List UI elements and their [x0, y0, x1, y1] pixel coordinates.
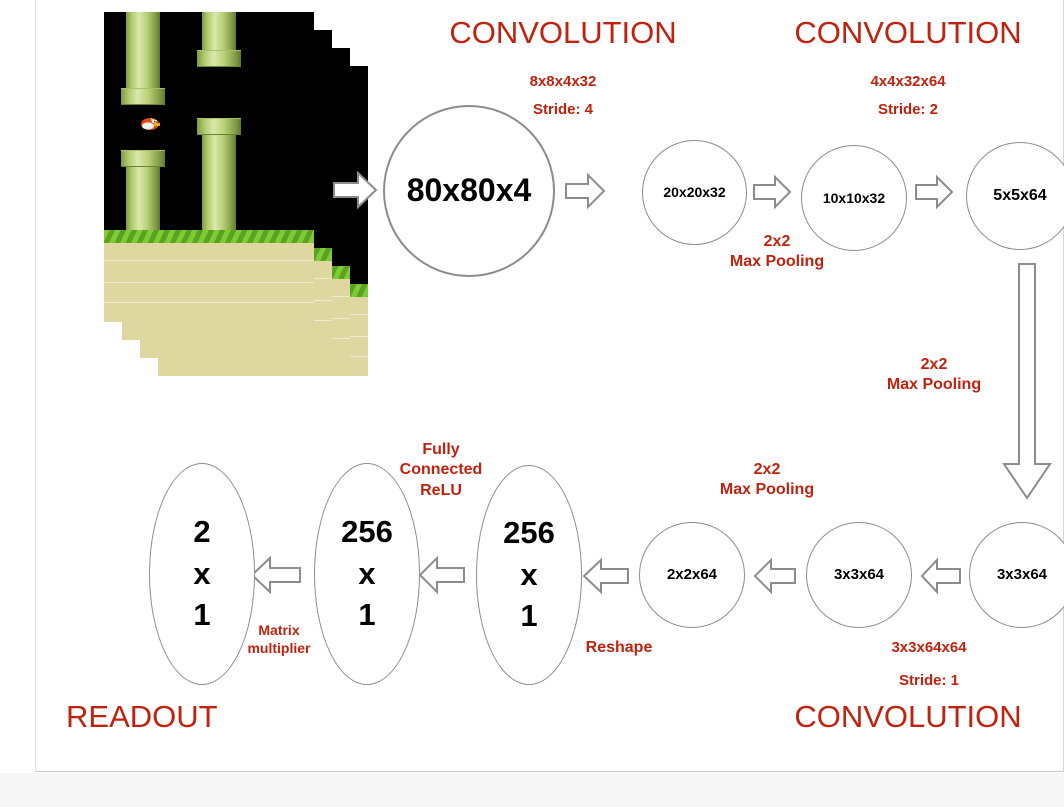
label-conv1-kernel: 8x8x4x32: [436, 72, 690, 91]
arrow-conv3-to-pool3: [753, 556, 797, 601]
node-conv1-output: 20x20x32: [642, 140, 747, 245]
node-flatten-line1: 256: [503, 517, 555, 550]
diagram-canvas: 80x80x4 CONVOLUTION 8x8x4x32 Stride: 4 2…: [0, 0, 1064, 807]
ground-stripe: [104, 230, 314, 243]
arrow-fc-to-output: [250, 554, 302, 601]
arrow-reshape: [582, 556, 630, 601]
label-conv2-kernel: 4x4x32x64: [776, 72, 1040, 91]
arrow-conv3-leftward: [920, 556, 962, 601]
label-conv3-stride: Stride: 1: [826, 671, 1032, 690]
label-readout: READOUT: [66, 697, 316, 737]
label-pool2: 2x2 Max Pooling: [854, 355, 1014, 396]
pipe-cap: [121, 150, 165, 167]
flappy-bird-frame-active: [104, 12, 314, 322]
bird-sprite: [140, 116, 162, 131]
arrow-pool1-to-conv2: [914, 174, 954, 215]
node-fc-line3: 1: [358, 599, 375, 632]
label-convolution-3: CONVOLUTION: [736, 697, 1064, 737]
node-fc-line1: 256: [341, 516, 393, 549]
pipe-cap: [121, 88, 165, 105]
node-fc-line2: x: [358, 558, 375, 591]
node-output-line2: x: [193, 558, 210, 591]
pipe: [202, 12, 236, 50]
label-conv1-stride: Stride: 4: [436, 100, 690, 119]
pipe: [126, 12, 160, 88]
node-output: 2 x 1: [149, 463, 255, 685]
label-conv2-stride: Stride: 2: [776, 100, 1040, 119]
ground: [104, 230, 314, 322]
pipe-cap: [197, 118, 241, 135]
label-convolution-1: CONVOLUTION: [401, 13, 725, 53]
pipe: [202, 132, 236, 232]
slide-page: 80x80x4 CONVOLUTION 8x8x4x32 Stride: 4 2…: [35, 0, 1064, 772]
label-convolution-2: CONVOLUTION: [736, 13, 1064, 53]
node-pool3-output: 2x2x64: [639, 522, 745, 628]
node-pool2-output: 3x3x64: [969, 522, 1064, 628]
pipe: [126, 164, 160, 234]
game-frame-stack: [104, 12, 349, 362]
ground-line: [104, 260, 314, 261]
label-pool1: 2x2 Max Pooling: [686, 232, 868, 273]
label-pool3: 2x2 Max Pooling: [676, 460, 858, 501]
label-conv3-kernel: 3x3x64x64: [826, 638, 1032, 657]
node-conv3-output: 3x3x64: [806, 522, 912, 628]
node-flatten-line3: 1: [520, 600, 537, 633]
ground-line: [104, 282, 314, 283]
arrow-conv1-to-pool1: [752, 174, 792, 215]
node-conv2-output: 5x5x64: [966, 142, 1064, 250]
arrow-input-to-conv1: [564, 172, 606, 215]
arrow-right-to-input: [332, 170, 378, 215]
arrow-flatten-to-fc: [418, 554, 466, 601]
page-background-below: [0, 773, 1064, 807]
node-output-line1: 2: [193, 516, 210, 549]
node-output-line3: 1: [193, 599, 210, 632]
pipe-cap: [197, 50, 241, 67]
node-flatten-line2: x: [520, 559, 537, 592]
node-input: 80x80x4: [383, 105, 555, 277]
ground-line: [104, 302, 314, 303]
